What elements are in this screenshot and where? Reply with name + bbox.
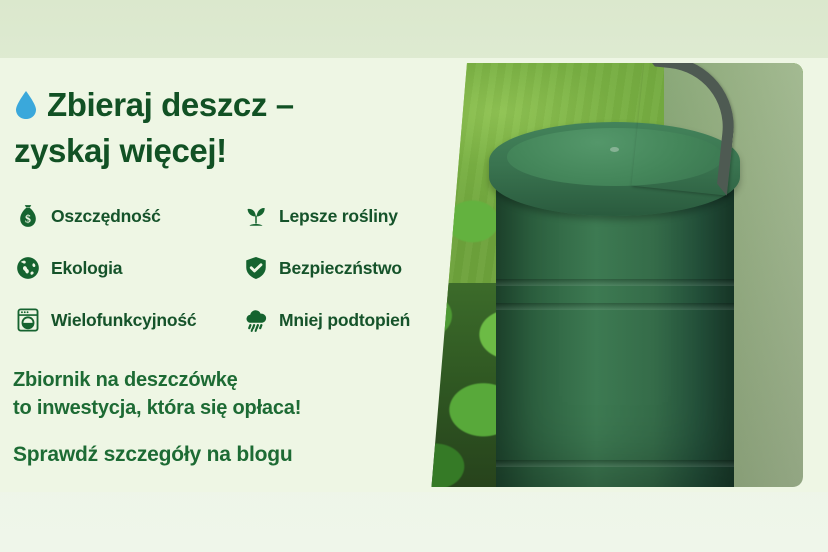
rainwater-promo-banner: Zbieraj deszcz – zyskaj więcej! $ Oszc [0, 0, 828, 552]
rain-barrel-photo [370, 63, 803, 487]
photo-scene [370, 63, 803, 487]
feature-label: Ekologia [51, 258, 122, 279]
feature-item-lepsze-rosliny: Lepsze rośliny [242, 202, 398, 230]
shield-check-icon [242, 254, 270, 282]
photo-barrel-lid-vent [610, 147, 619, 152]
banner-content: Zbieraj deszcz – zyskaj więcej! $ Oszc [0, 58, 430, 492]
sprout-icon [242, 202, 270, 230]
tagline-line-1: Zbiornik na deszczówkę [13, 366, 301, 394]
feature-row: $ Oszczędność [14, 190, 432, 242]
feature-label: Lepsze rośliny [279, 206, 398, 227]
tagline: Zbiornik na deszczówkę to inwestycja, kt… [13, 366, 301, 423]
feature-item-ekologia: Ekologia [14, 254, 242, 282]
page-title: Zbieraj deszcz – zyskaj więcej! [14, 84, 414, 172]
svg-text:$: $ [25, 212, 31, 226]
headline-line-2: zyskaj więcej! [14, 132, 227, 169]
feature-item-oszczednosc: $ Oszczędność [14, 202, 242, 230]
feature-item-bezpieczenstwo: Bezpieczństwo [242, 254, 402, 282]
headline-line-1: Zbieraj deszcz – [47, 86, 294, 123]
feature-label: Wielofunkcyjność [51, 310, 196, 331]
globe-icon [14, 254, 42, 282]
money-bag-icon: $ [14, 202, 42, 230]
washing-machine-icon [14, 306, 42, 334]
photo-barrel-band [496, 303, 734, 310]
rain-cloud-icon [242, 306, 270, 334]
banner-card: Zbieraj deszcz – zyskaj więcej! $ Oszc [0, 58, 828, 492]
feature-label: Mniej podtopień [279, 310, 410, 331]
feature-label: Bezpieczństwo [279, 258, 402, 279]
photo-barrel-band [496, 460, 734, 467]
cta-link[interactable]: Sprawdź szczegóły na blogu [13, 443, 293, 467]
feature-row: Wielofunkcyjność Mniej podtopień [14, 294, 432, 346]
water-drop-icon [14, 88, 38, 130]
feature-label: Oszczędność [51, 206, 161, 227]
photo-barrel-band [496, 279, 734, 286]
feature-row: Ekologia Bezpieczństwo [14, 242, 432, 294]
tagline-line-2: to inwestycja, która się opłaca! [13, 394, 301, 422]
feature-item-wielofunkcyjnosc: Wielofunkcyjność [14, 306, 242, 334]
feature-item-mniej-podtopien: Mniej podtopień [242, 306, 410, 334]
feature-list: $ Oszczędność [14, 190, 432, 346]
